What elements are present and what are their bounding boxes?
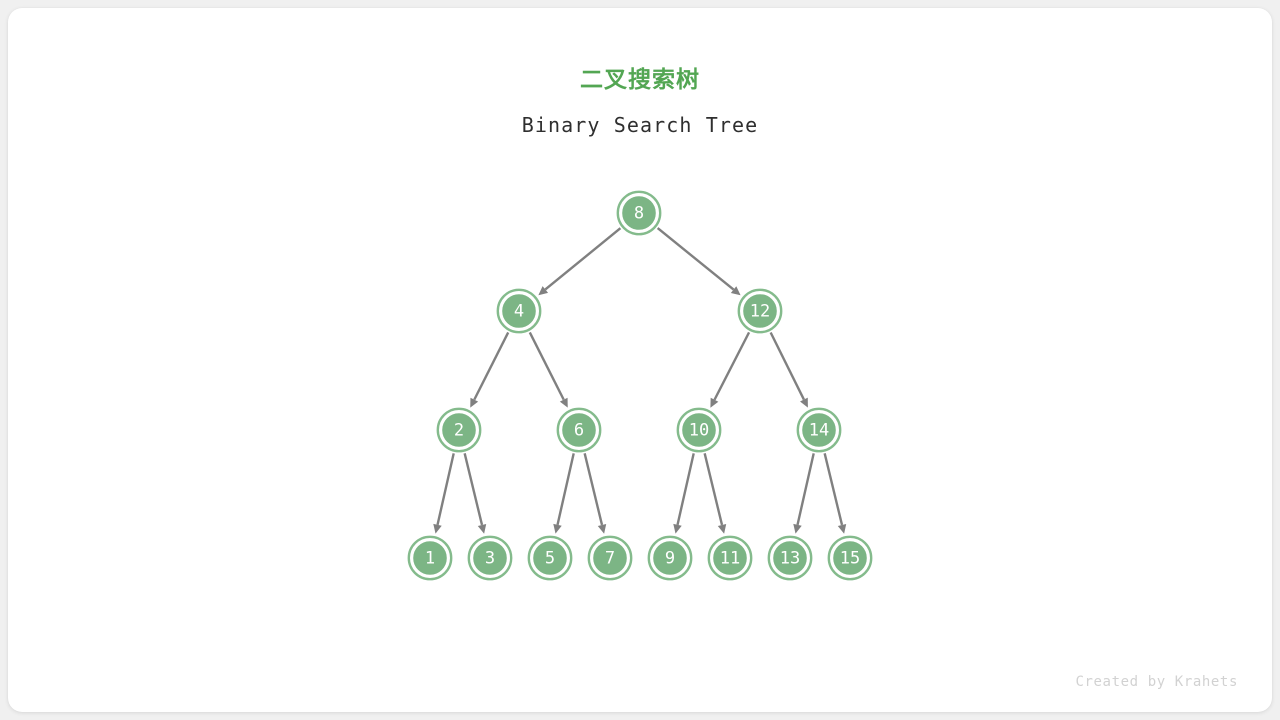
edge-line: [715, 332, 750, 399]
page-subtitle: Binary Search Tree: [8, 113, 1272, 137]
node-value-label: 6: [574, 421, 584, 441]
diagram-card: 841226101413579111315 二叉搜索树 Binary Searc…: [8, 8, 1272, 712]
node-value-label: 11: [720, 549, 740, 569]
credit-text: Created by Krahets: [1075, 674, 1238, 690]
edges-layer: [433, 228, 846, 534]
tree-node[interactable]: 2: [438, 409, 480, 451]
edge-line: [678, 453, 694, 524]
tree-node[interactable]: 5: [529, 537, 571, 579]
nodes-layer: 841226101413579111315: [409, 192, 871, 579]
edge-arrowhead-icon: [478, 524, 486, 534]
edge-line: [658, 228, 734, 289]
tree-edge: [470, 332, 508, 407]
edge-line: [545, 228, 620, 289]
node-value-label: 4: [514, 302, 524, 322]
tree-node[interactable]: 13: [769, 537, 811, 579]
tree-node[interactable]: 10: [678, 409, 720, 451]
node-value-label: 1: [425, 549, 435, 569]
node-value-label: 3: [485, 549, 495, 569]
tree-edge: [771, 333, 808, 408]
tree-edge: [673, 453, 693, 533]
tree-node[interactable]: 8: [618, 192, 660, 234]
tree-edge: [433, 453, 453, 533]
edge-arrowhead-icon: [838, 524, 846, 534]
edge-line: [705, 453, 722, 525]
node-value-label: 2: [454, 421, 464, 441]
tree-node[interactable]: 12: [739, 290, 781, 332]
tree-edge: [710, 332, 749, 407]
edge-arrowhead-icon: [718, 524, 726, 534]
tree-edge: [538, 228, 620, 295]
tree-node[interactable]: 9: [649, 537, 691, 579]
tree-edge: [793, 453, 813, 533]
edge-line: [771, 333, 804, 400]
node-value-label: 10: [689, 421, 709, 441]
page-title: 二叉搜索树: [8, 60, 1272, 94]
tree-node[interactable]: 6: [558, 409, 600, 451]
tree-edge: [705, 453, 727, 533]
tree-edge: [465, 453, 487, 533]
edge-line: [558, 453, 574, 524]
edge-line: [798, 453, 814, 524]
node-value-label: 12: [750, 302, 770, 322]
edge-arrowhead-icon: [673, 524, 681, 534]
tree-node[interactable]: 3: [469, 537, 511, 579]
node-value-label: 5: [545, 549, 555, 569]
edge-line: [438, 453, 454, 524]
node-value-label: 8: [634, 204, 644, 224]
edge-line: [825, 453, 842, 525]
tree-node[interactable]: 4: [498, 290, 540, 332]
edge-arrowhead-icon: [598, 524, 606, 534]
tree-edge: [658, 228, 741, 295]
edge-line: [585, 453, 602, 525]
tree-node[interactable]: 15: [829, 537, 871, 579]
tree-edge: [585, 453, 607, 533]
edge-line: [530, 332, 564, 399]
edge-line: [465, 453, 482, 525]
node-value-label: 14: [809, 421, 829, 441]
edge-arrowhead-icon: [793, 524, 801, 534]
edge-arrowhead-icon: [553, 524, 561, 534]
node-value-label: 13: [780, 549, 800, 569]
edge-line: [474, 332, 508, 399]
node-value-label: 7: [605, 549, 615, 569]
tree-node[interactable]: 11: [709, 537, 751, 579]
node-value-label: 9: [665, 549, 675, 569]
tree-edge: [530, 332, 568, 407]
tree-edge: [553, 453, 573, 533]
tree-edge: [825, 453, 847, 533]
tree-node[interactable]: 1: [409, 537, 451, 579]
edge-arrowhead-icon: [433, 524, 441, 534]
tree-node[interactable]: 7: [589, 537, 631, 579]
node-value-label: 15: [840, 549, 860, 569]
tree-node[interactable]: 14: [798, 409, 840, 451]
